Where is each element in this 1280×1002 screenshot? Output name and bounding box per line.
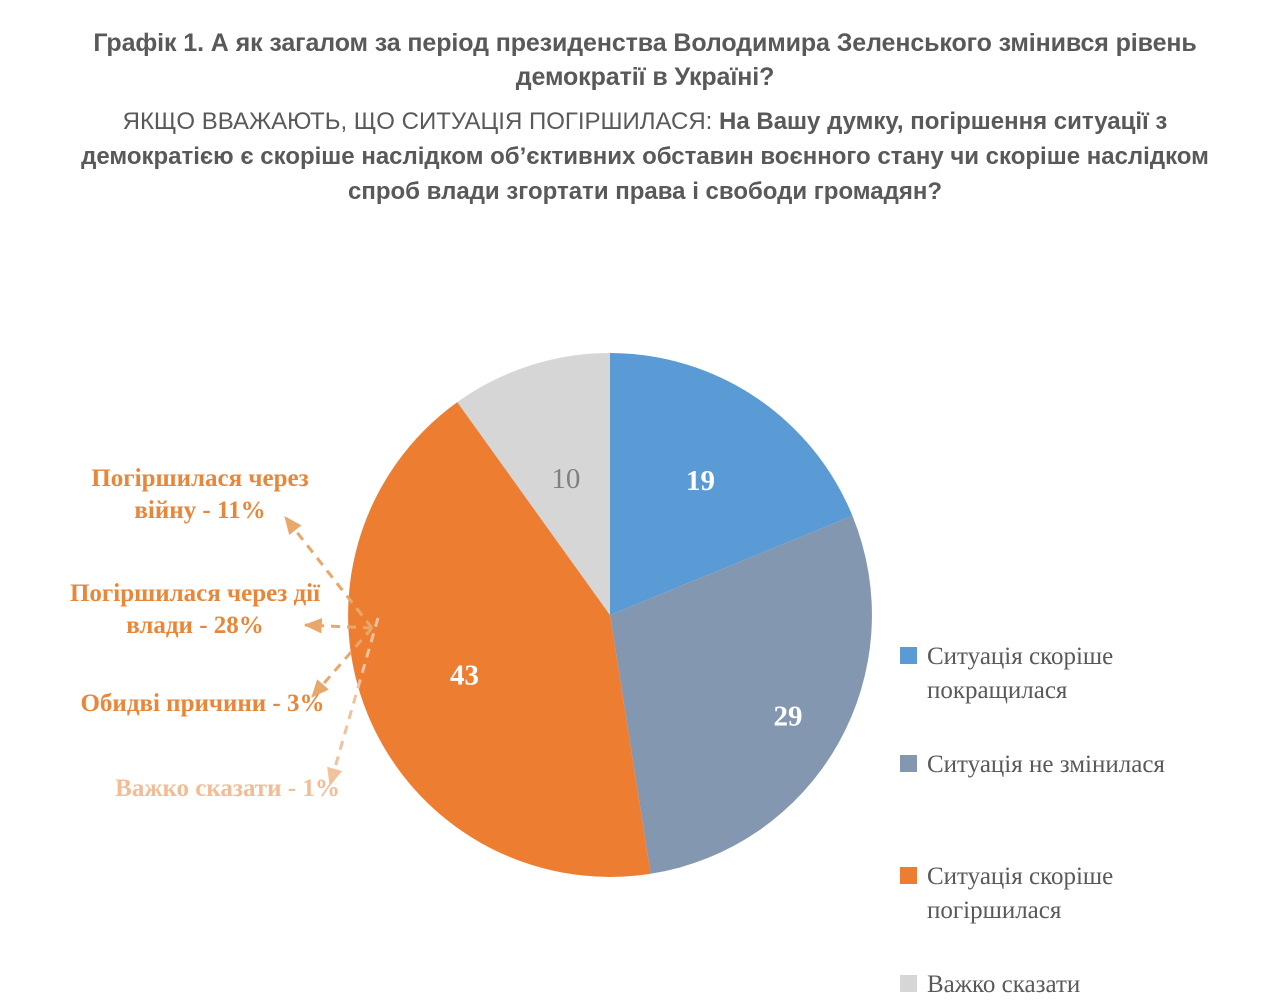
chart-subtitle: ЯКЩО ВВАЖАЮТЬ, ЩО СИТУАЦІЯ ПОГІРШИЛАСЯ: …	[50, 104, 1240, 209]
legend-label-unchanged: Ситуація не змінилася	[927, 748, 1165, 782]
callout-both: Обидві причини - 3%	[80, 688, 325, 720]
subtitle-prefix: ЯКЩО ВВАЖАЮТЬ, ЩО СИТУАЦІЯ ПОГІРШИЛАСЯ:	[123, 108, 719, 135]
legend-swatch-icon-orange	[900, 867, 917, 884]
slice-value-29: 29	[774, 700, 803, 732]
slice-value-10: 10	[551, 463, 580, 495]
title-block: Графік 1. А як загалом за період президе…	[50, 26, 1240, 209]
legend-swatch-icon-blue	[900, 647, 917, 664]
legend-item-worsened[interactable]: Ситуація скоріше погіршилася	[900, 860, 1177, 928]
slice-value-19: 19	[686, 465, 715, 497]
legend-label-improved: Ситуація скоріше покращилася	[927, 640, 1177, 708]
legend-item-hard-to-say[interactable]: Важко сказати	[900, 968, 1080, 1002]
slice-value-43: 43	[450, 660, 479, 692]
callout-hard-to-say: Важко сказати - 1%	[110, 773, 345, 805]
callout-authorities: Погіршилася через дії влади - 28%	[60, 578, 330, 642]
chart-plot-area: 19 29 43 10 Погіршилася через війну - 11…	[0, 250, 1280, 895]
legend-swatch-icon-slate	[900, 755, 917, 772]
callout-war: Погіршилася через війну - 11%	[70, 463, 330, 527]
legend-swatch-icon-gray	[900, 975, 917, 992]
legend-label-worsened: Ситуація скоріше погіршилася	[927, 860, 1177, 928]
legend-item-improved[interactable]: Ситуація скоріше покращилася	[900, 640, 1177, 708]
legend-label-hard-to-say: Важко сказати	[927, 968, 1080, 1002]
page-title: Графік 1. А як загалом за період президе…	[50, 26, 1240, 94]
legend-item-unchanged[interactable]: Ситуація не змінилася	[900, 748, 1165, 782]
